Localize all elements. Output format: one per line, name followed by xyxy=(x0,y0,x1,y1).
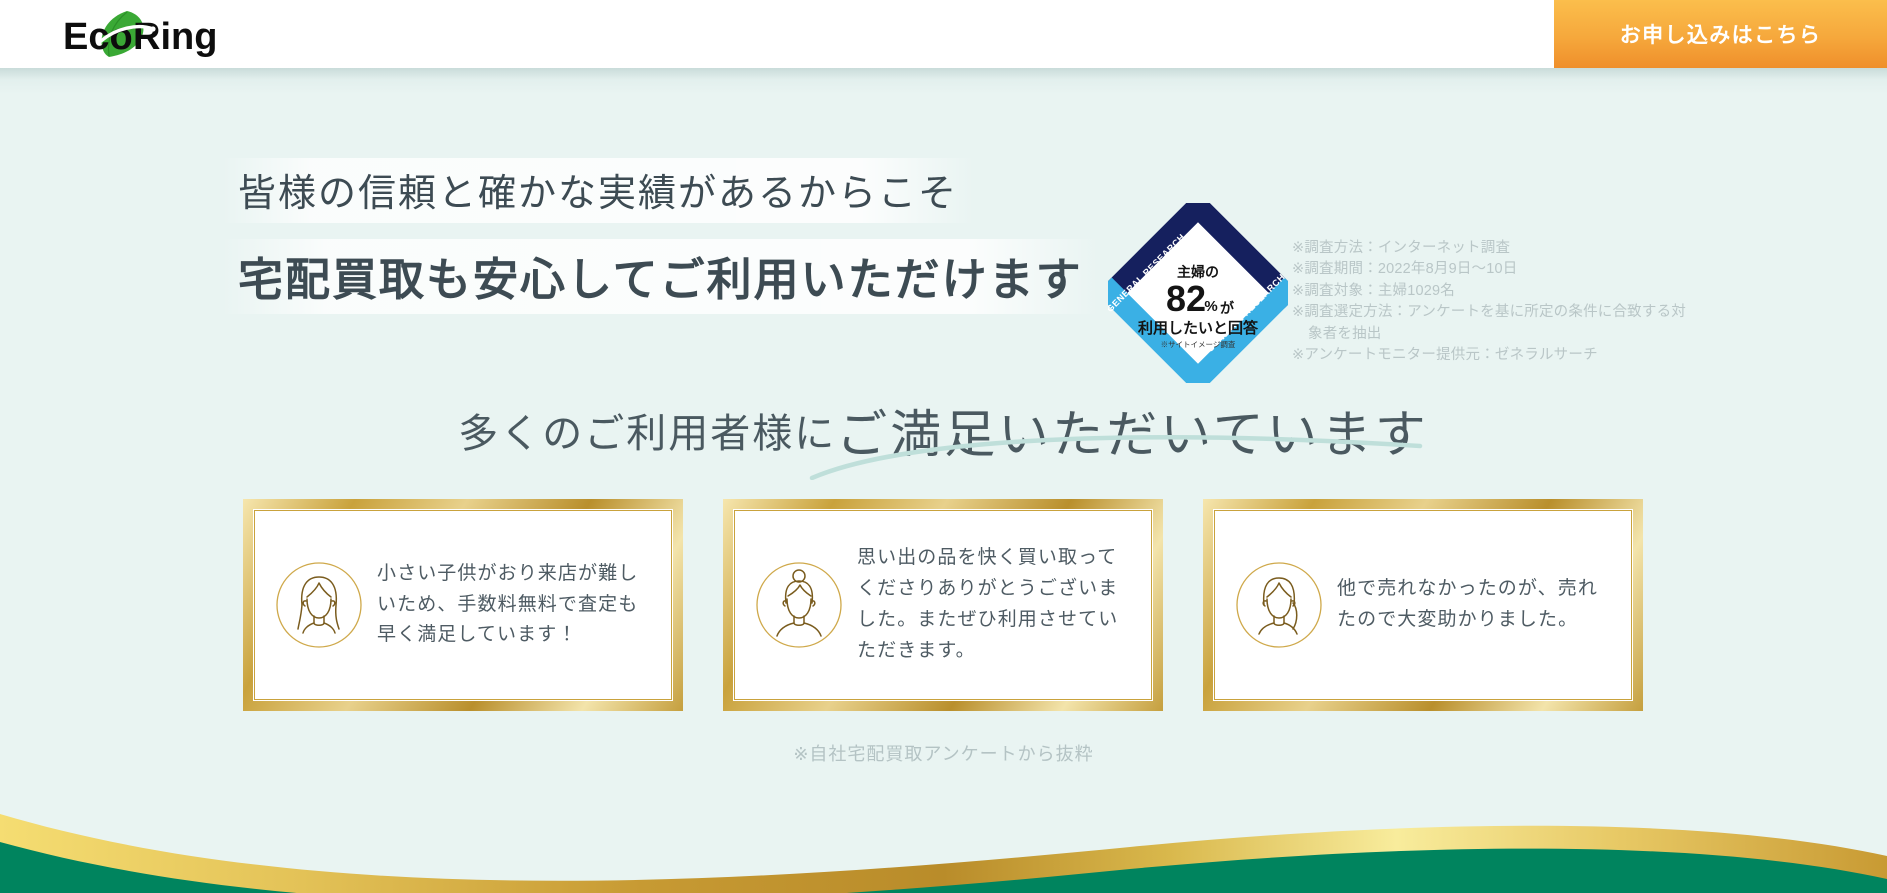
woman-ponytail-icon xyxy=(1235,561,1323,649)
svg-text:利用したいと回答: 利用したいと回答 xyxy=(1138,319,1259,337)
hero-headline: 皆様の信頼と確かな実績があるからこそ 宅配買取も安心してご利用いただけます xyxy=(222,158,1082,314)
survey-note-5: ※アンケートモニター提供元：ゼネラルサーチ xyxy=(1292,345,1692,366)
woman-long-hair-icon xyxy=(275,561,363,649)
testimonial-text: 思い出の品を快く買い取ってくださりありがとうございました。またぜひ利用させていた… xyxy=(857,543,1133,666)
section-heading-small: 多くのご利用者様に xyxy=(458,401,836,459)
testimonial-card: 小さい子供がおり来店が難しいため、手数料無料で査定も早く満足しています！ xyxy=(243,499,683,711)
testimonial-text: 小さい子供がおり来店が難しいため、手数料無料で査定も早く満足しています！ xyxy=(377,559,653,651)
site-header: Eco Ring お申し込みはこちら xyxy=(0,0,1887,68)
survey-note-0: ※調査方法：インターネット調査 xyxy=(1292,238,1692,259)
testimonial-text: 他で売れなかったのが、売れたので大変助かりました。 xyxy=(1337,574,1613,636)
headline-line-2: 宅配買取も安心してご利用いただけます xyxy=(222,239,1099,314)
apply-cta-button[interactable]: お申し込みはこちら xyxy=(1554,0,1887,68)
survey-note-4: 象者を抽出 xyxy=(1292,324,1692,345)
svg-text:%: % xyxy=(1204,298,1217,315)
section-heading: 多くのご利用者様に ご満足いただいています xyxy=(0,385,1887,475)
testimonial-card: 思い出の品を快く買い取ってくださりありがとうございました。またぜひ利用させていた… xyxy=(723,499,1163,711)
svg-text:※サイトイメージ調査: ※サイトイメージ調査 xyxy=(1161,339,1236,349)
ecoring-logo[interactable]: Eco Ring xyxy=(49,7,249,61)
woman-bun-hair-icon xyxy=(755,561,843,649)
testimonials-note: ※自社宅配買取アンケートから抜粋 xyxy=(0,740,1887,766)
svg-text:が: が xyxy=(1220,300,1235,316)
svg-text:82: 82 xyxy=(1166,278,1206,319)
survey-badge: GENERAL RESEARCH GENERAL RESEARCH 主婦の 82… xyxy=(1108,203,1288,383)
svg-text:Eco: Eco xyxy=(63,16,133,58)
section-heading-large: ご満足いただいています xyxy=(836,393,1428,467)
hero-section: 皆様の信頼と確かな実績があるからこそ 宅配買取も安心してご利用いただけます GE… xyxy=(0,68,1887,368)
survey-note-3: ※調査選定方法：アンケートを基に所定の条件に合致する対 xyxy=(1292,302,1692,323)
headline-line-1: 皆様の信頼と確かな実績があるからこそ xyxy=(222,158,974,223)
testimonial-card: 他で売れなかったのが、売れたので大変助かりました。 xyxy=(1203,499,1643,711)
survey-notes: ※調査方法：インターネット調査 ※調査期間：2022年8月9日〜10日 ※調査対… xyxy=(1292,238,1692,367)
testimonial-cards: 小さい子供がおり来店が難しいため、手数料無料で査定も早く満足しています！ xyxy=(243,499,1643,711)
survey-note-1: ※調査期間：2022年8月9日〜10日 xyxy=(1292,259,1692,280)
svg-text:Ring: Ring xyxy=(133,16,217,58)
survey-note-2: ※調査対象：主婦1029名 xyxy=(1292,281,1692,302)
footer-wave xyxy=(0,773,1887,893)
